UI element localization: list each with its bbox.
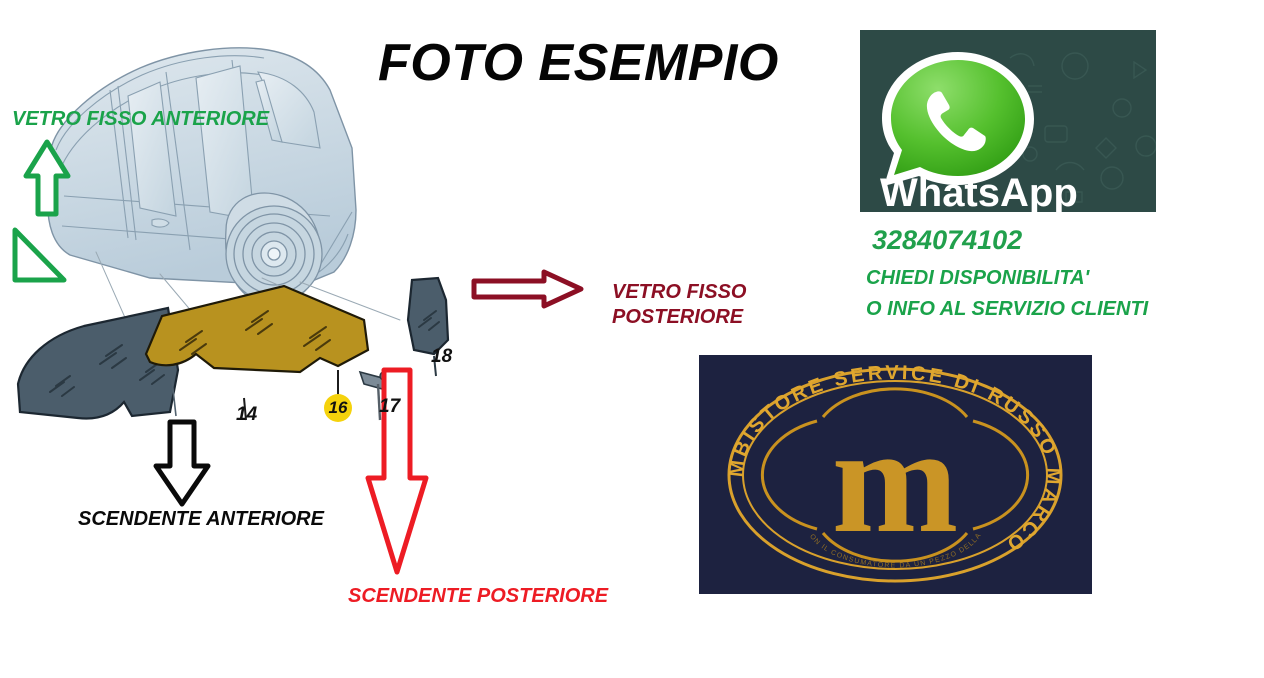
contact-line-2: O INFO AL SERVIZIO CLIENTI: [866, 298, 1148, 321]
label-scendente-posteriore: SCENDENTE POSTERIORE: [348, 585, 608, 608]
whatsapp-logo-icon: [882, 52, 1034, 186]
shop-logo: MRICAMBISTORE SERVICE DI RUSSO MARCO m D…: [699, 355, 1092, 594]
whatsapp-wordmark: WhatsApp: [880, 171, 1078, 212]
part-number-17: 17: [379, 396, 400, 418]
part-number-16-badge: 16: [324, 394, 352, 422]
screenshot-canvas: FOTO ESEMPIO VETRO FISSO ANTERIORE VETRO…: [0, 0, 1264, 678]
green-triangle-icon: [10, 226, 68, 286]
label-vetro-fisso-posteriore-line1: VETRO FISSO: [612, 280, 746, 305]
part-16-glass-highlighted: [146, 286, 368, 372]
whatsapp-banner: WhatsApp: [860, 30, 1156, 212]
label-vetro-fisso-posteriore-line2: POSTERIORE: [612, 305, 746, 330]
label-vetro-fisso-anteriore: VETRO FISSO ANTERIORE: [12, 108, 269, 131]
svg-text:m: m: [832, 396, 959, 564]
logo-monogram: m: [832, 396, 959, 564]
contact-line-1: CHIEDI DISPONIBILITA': [866, 267, 1089, 290]
part-number-14: 14: [236, 404, 257, 426]
part-number-18: 18: [431, 346, 452, 368]
dark-red-right-arrow-icon: [470, 268, 585, 310]
black-down-arrow-icon: [152, 418, 212, 508]
part-number-16: 16: [324, 394, 352, 422]
page-title: FOTO ESEMPIO: [378, 33, 779, 93]
green-up-arrow-icon: [22, 138, 72, 218]
label-scendente-anteriore: SCENDENTE ANTERIORE: [78, 508, 324, 531]
label-vetro-fisso-posteriore: VETRO FISSO POSTERIORE: [612, 280, 746, 330]
phone-number[interactable]: 3284074102: [872, 225, 1022, 256]
